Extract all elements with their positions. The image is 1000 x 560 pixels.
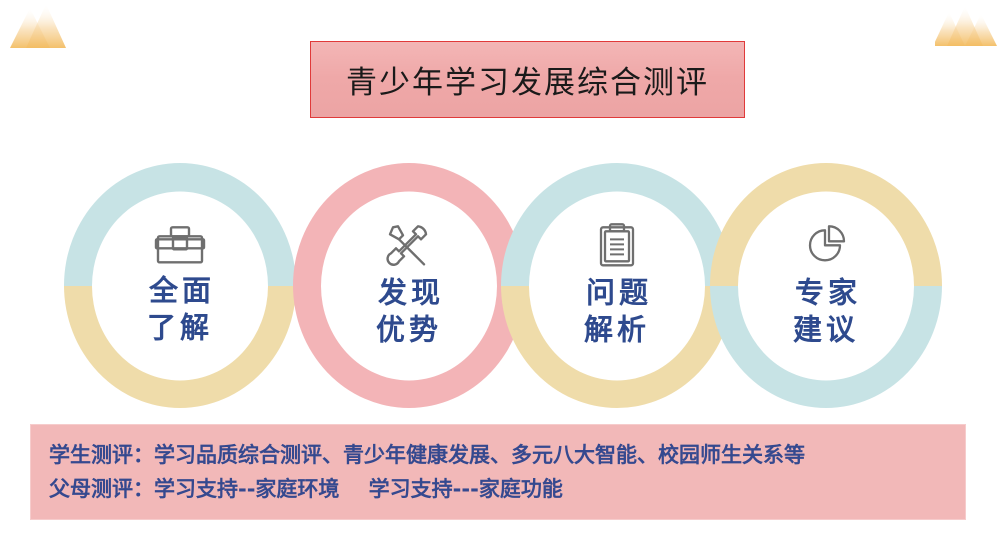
triangle-icon — [10, 2, 80, 50]
title-banner: 青少年学习发展综合测评 — [310, 41, 745, 118]
circle-item-wenti-jiexi[interactable]: 问题 解析 — [501, 163, 733, 408]
circle-content: 全面 了解 — [95, 224, 265, 347]
circle-content: 发现 优势 — [324, 222, 494, 349]
toolbox-icon — [154, 224, 206, 266]
triangle-icon — [935, 4, 997, 48]
circle-item-faxian-youshi[interactable]: 发现 优势 — [293, 163, 525, 408]
circle-label: 全面 了解 — [145, 272, 215, 347]
top-left-triangle-decoration — [10, 2, 80, 50]
note-line-parent: 父母测评：学习支持--家庭环境 学习支持---家庭功能 — [49, 472, 947, 506]
circle-label: 问题 解析 — [582, 274, 652, 349]
page-title: 青少年学习发展综合测评 — [346, 57, 709, 102]
pie-chart-icon — [803, 222, 849, 268]
circle-content: 专家 建议 — [741, 222, 911, 349]
bottom-note-panel: 学生测评：学习品质综合测评、青少年健康发展、多元八大智能、校园师生关系等 父母测… — [30, 424, 966, 520]
clipboard-icon — [597, 222, 637, 268]
circle-item-quanmian-liaojie[interactable]: 全面 了解 — [64, 163, 296, 408]
circle-label: 专家 建议 — [791, 274, 861, 349]
circle-label: 发现 优势 — [374, 274, 444, 349]
slide-canvas: 青少年学习发展综合测评 全面 了解 — [0, 0, 1000, 560]
circle-item-zhuanjia-jianyi[interactable]: 专家 建议 — [710, 163, 942, 408]
note-line-student: 学生测评：学习品质综合测评、青少年健康发展、多元八大智能、校园师生关系等 — [49, 438, 947, 472]
top-right-triangle-decoration — [935, 4, 997, 48]
tools-wrench-screwdriver-icon — [385, 222, 433, 268]
circle-content: 问题 解析 — [532, 222, 702, 349]
